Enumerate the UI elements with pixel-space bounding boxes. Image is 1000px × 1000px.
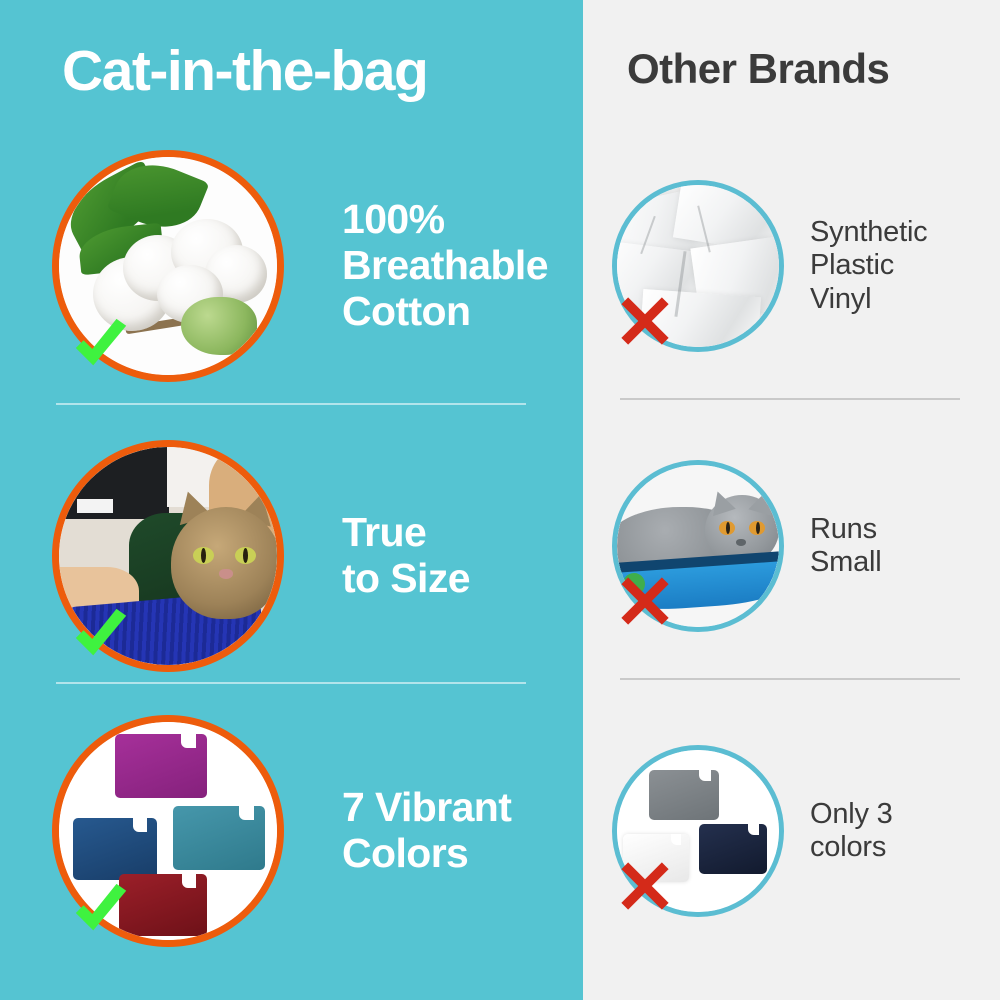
- left-feature-row-2: True to Size: [52, 440, 552, 672]
- left-separator-2: [56, 682, 526, 684]
- left-feature-3-image-wrap: [52, 715, 284, 947]
- three-colored-bags-photo: [612, 745, 784, 917]
- bag-swatch-white: [623, 834, 689, 882]
- left-feature-2-image-wrap: [52, 440, 284, 672]
- crumpled-plastic-sheeting-photo: [612, 180, 784, 352]
- left-feature-2-text: True to Size: [342, 510, 470, 602]
- right-feature-1-line-2: Plastic: [810, 249, 928, 282]
- left-feature-1-image-wrap: [52, 150, 284, 382]
- cotton-bolls-photo: [52, 150, 284, 382]
- left-feature-row-1: 100% Breathable Cotton: [52, 150, 552, 382]
- bag-swatch-dark: [699, 824, 767, 874]
- bag-swatch-maroon: [119, 874, 207, 936]
- bag-swatch-gray: [649, 770, 719, 820]
- bag-swatch-purple: [115, 734, 207, 798]
- right-separator-2: [620, 678, 960, 680]
- four-colored-bags-photo: [52, 715, 284, 947]
- right-feature-2-image-wrap: [612, 460, 784, 632]
- right-feature-3-text: Only 3 colors: [810, 798, 893, 864]
- right-feature-3-line-1: Only 3: [810, 798, 893, 831]
- bag-swatch-navy: [73, 818, 157, 880]
- right-feature-2-line-1: Runs: [810, 513, 882, 546]
- comparison-infographic: Cat-in-the-bag Other Brands: [0, 0, 1000, 1000]
- left-feature-1-text: 100% Breathable Cotton: [342, 197, 548, 335]
- right-feature-1-image-wrap: [612, 180, 784, 352]
- left-feature-1-line-2: Breathable: [342, 243, 548, 289]
- right-feature-2-line-2: Small: [810, 546, 882, 579]
- right-feature-1-text: Synthetic Plastic Vinyl: [810, 216, 928, 315]
- left-column-title: Cat-in-the-bag: [62, 38, 427, 104]
- left-feature-3-line-2: Colors: [342, 831, 511, 877]
- left-feature-3-text: 7 Vibrant Colors: [342, 785, 511, 877]
- left-feature-1-line-3: Cotton: [342, 289, 548, 335]
- left-feature-2-line-1: True: [342, 510, 470, 556]
- right-separator-1: [620, 398, 960, 400]
- right-feature-1-line-1: Synthetic: [810, 216, 928, 249]
- right-feature-1-line-3: Vinyl: [810, 283, 928, 316]
- left-feature-row-3: 7 Vibrant Colors: [52, 715, 552, 947]
- right-feature-row-2: Runs Small: [612, 460, 992, 632]
- right-feature-2-text: Runs Small: [810, 513, 882, 579]
- right-feature-row-3: Only 3 colors: [612, 745, 992, 917]
- bag-swatch-teal: [173, 806, 265, 870]
- right-feature-3-image-wrap: [612, 745, 784, 917]
- left-feature-2-line-2: to Size: [342, 556, 470, 602]
- right-feature-row-1: Synthetic Plastic Vinyl: [612, 180, 992, 352]
- cat-in-green-bag-photo: [52, 440, 284, 672]
- right-feature-3-line-2: colors: [810, 831, 893, 864]
- left-feature-3-line-1: 7 Vibrant: [342, 785, 511, 831]
- gray-cat-in-small-blue-bag-photo: [612, 460, 784, 632]
- right-column-title: Other Brands: [627, 45, 889, 93]
- left-separator-1: [56, 403, 526, 405]
- left-feature-1-line-1: 100%: [342, 197, 548, 243]
